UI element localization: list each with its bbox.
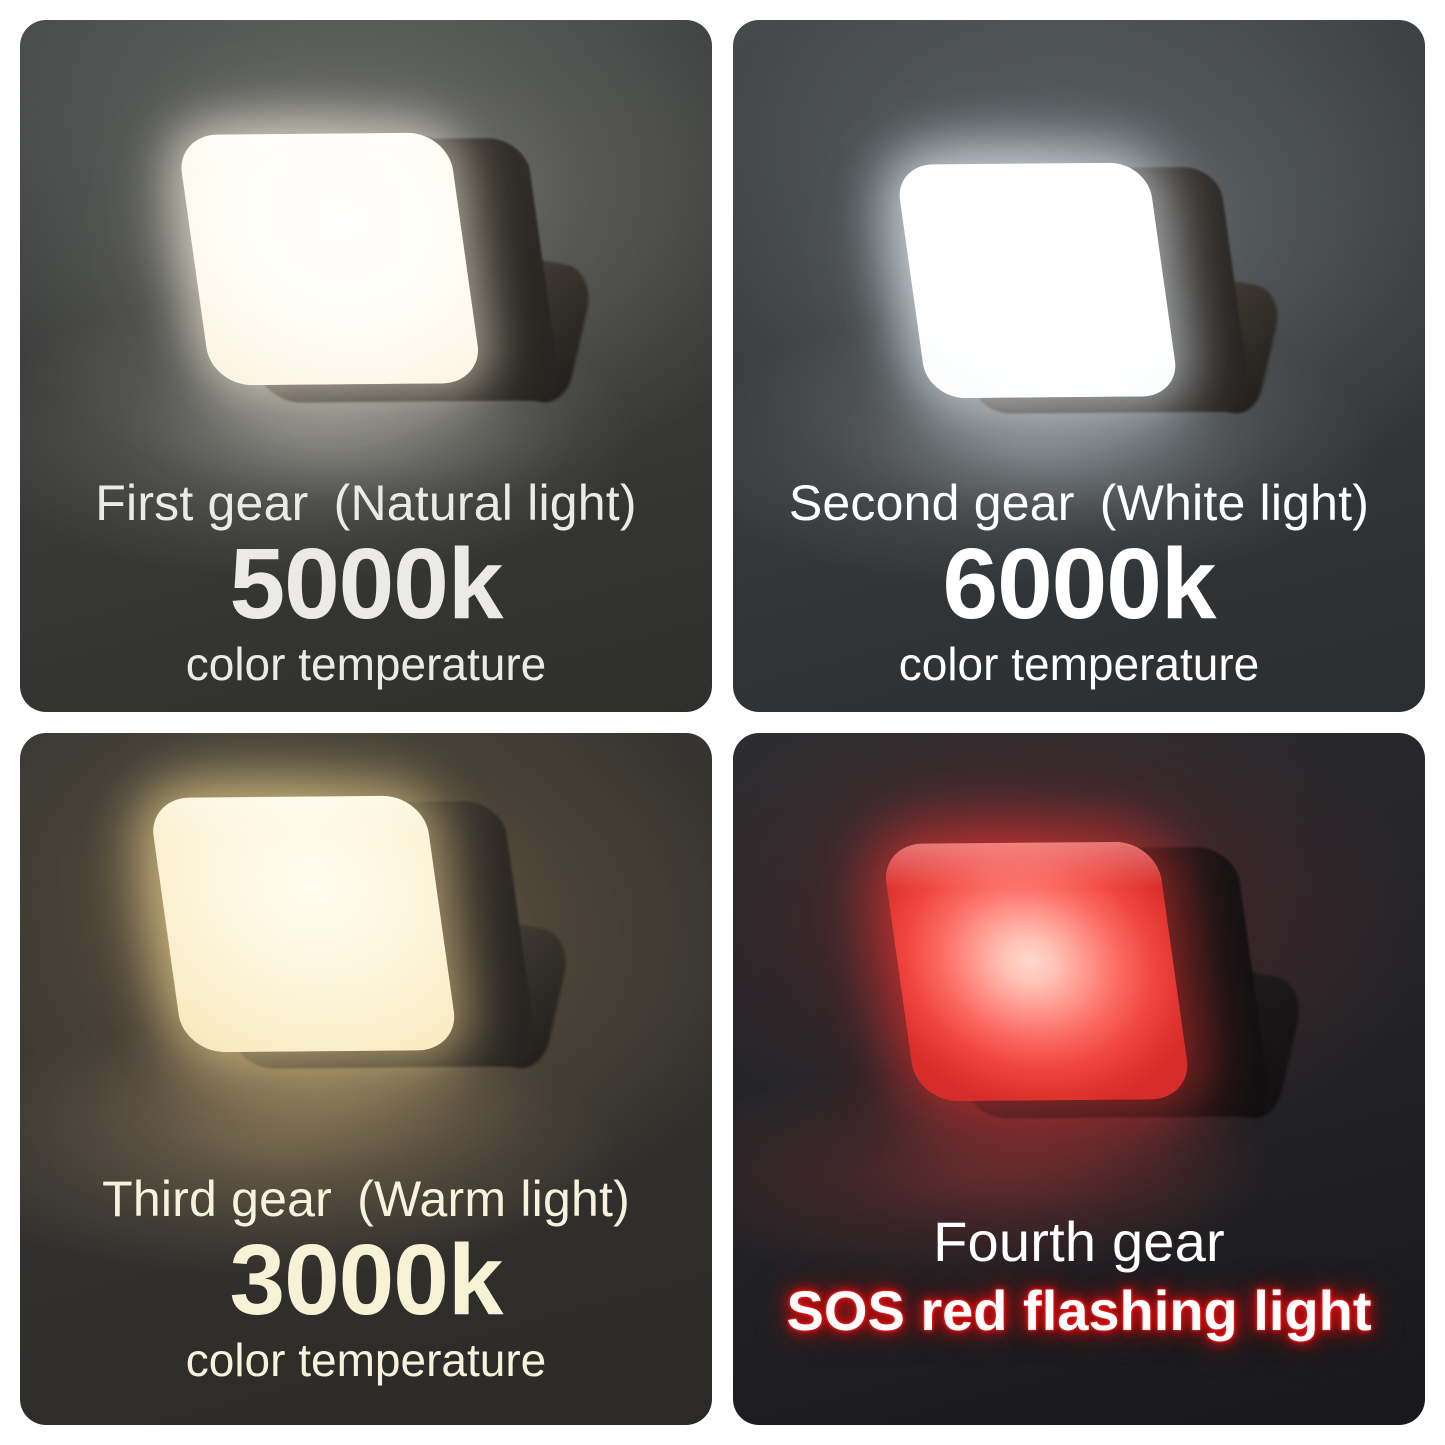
caption-first-gear: First gear (Natural light) 5000k color t… bbox=[20, 475, 712, 690]
lamp-photo-third-gear bbox=[170, 795, 520, 1087]
lamp-light-face bbox=[176, 133, 483, 386]
mode-label-first-gear: First gear (Natural light) bbox=[42, 475, 690, 531]
lamp-glow-halo bbox=[93, 755, 455, 1063]
kelvin-value-first-gear: 5000k bbox=[42, 533, 690, 635]
sos-label-fourth-gear: SOS red flashing light bbox=[755, 1280, 1403, 1343]
kelvin-caption-third-gear: color temperature bbox=[42, 1335, 690, 1386]
panel-third-gear: Third gear (Warm light) 3000k color temp… bbox=[20, 733, 712, 1425]
panel-first-gear: First gear (Natural light) 5000k color t… bbox=[20, 20, 712, 712]
lamp-light-face bbox=[881, 842, 1193, 1102]
lamp-photo-first-gear bbox=[198, 132, 543, 420]
mode-label-fourth-gear: Fourth gear bbox=[755, 1211, 1403, 1274]
kelvin-caption-second-gear: color temperature bbox=[755, 639, 1403, 690]
caption-second-gear: Second gear (White light) 6000k color te… bbox=[733, 475, 1425, 690]
panel-second-gear: Second gear (White light) 6000k color te… bbox=[733, 20, 1425, 712]
kelvin-value-second-gear: 6000k bbox=[755, 533, 1403, 635]
mode-label-second-gear: Second gear (White light) bbox=[755, 475, 1403, 531]
lamp-light-face bbox=[895, 163, 1180, 399]
lamp-glow-halo bbox=[844, 125, 1175, 408]
caption-third-gear: Third gear (Warm light) 3000k color temp… bbox=[20, 1171, 712, 1386]
lamp-glow-halo bbox=[122, 92, 479, 396]
caption-fourth-gear: Fourth gear SOS red flashing light bbox=[733, 1211, 1425, 1342]
lamp-light-face bbox=[148, 796, 459, 1053]
lamp-glow-halo bbox=[826, 800, 1189, 1112]
kelvin-caption-first-gear: color temperature bbox=[42, 639, 690, 690]
mode-label-third-gear: Third gear (Warm light) bbox=[42, 1171, 690, 1227]
lamp-photo-second-gear bbox=[915, 162, 1235, 430]
product-feature-grid: First gear (Natural light) 5000k color t… bbox=[0, 0, 1445, 1445]
kelvin-value-third-gear: 3000k bbox=[42, 1229, 690, 1331]
panel-fourth-gear: Fourth gear SOS red flashing light bbox=[733, 733, 1425, 1425]
lamp-photo-fourth-gear bbox=[903, 841, 1253, 1137]
